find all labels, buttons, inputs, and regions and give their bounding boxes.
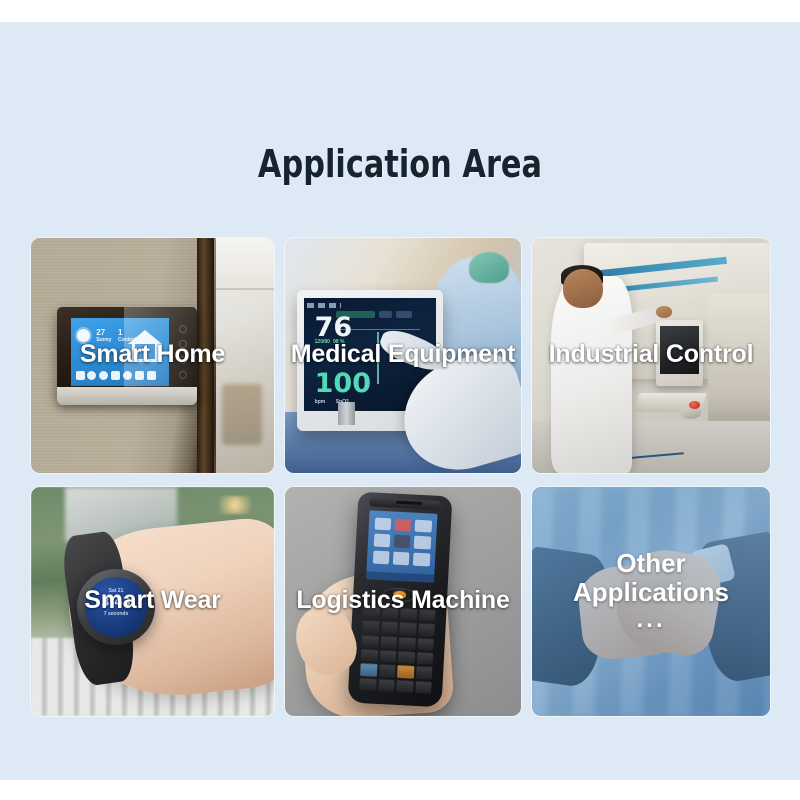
medical-equipment-scene: 76 100 120/80 98 % bpm SpO2	[285, 238, 521, 473]
smart-home-scene: 27 Sunny 1 Control	[31, 238, 274, 473]
keypad-key	[401, 608, 418, 621]
keypad-key	[381, 635, 398, 648]
other-label-line-1: Other	[532, 549, 770, 578]
keypad-key	[362, 634, 379, 647]
smart-home-panel: 27 Sunny 1 Control	[57, 307, 198, 396]
app-icon-7	[373, 550, 390, 563]
machine-right-module	[708, 294, 770, 440]
keypad-key	[417, 637, 434, 650]
control-mouse	[680, 407, 701, 419]
door-frame	[197, 238, 214, 473]
light-icon	[99, 371, 108, 380]
vital-small-2: 98 %	[333, 339, 344, 345]
device-screen	[367, 510, 438, 583]
card-other-applications[interactable]: Other Applications ...	[532, 487, 770, 716]
keypad-key	[364, 606, 381, 619]
app-icon-2	[395, 518, 412, 531]
control-monitor-screen	[660, 326, 699, 373]
card-industrial-control[interactable]: Industrial Control	[532, 238, 770, 473]
keypad-key	[379, 664, 396, 677]
card-medical-equipment[interactable]: 76 100 120/80 98 % bpm SpO2 Medical Equi…	[285, 238, 521, 473]
monitor-pill-2	[396, 311, 412, 319]
panel-base	[57, 387, 198, 405]
keypad-key	[419, 609, 436, 622]
application-card-grid: 27 Sunny 1 Control	[31, 238, 770, 716]
keypad-key	[417, 652, 434, 665]
card-logistics-machine[interactable]: Logistics Machine	[285, 487, 521, 716]
control-monitor	[656, 320, 704, 386]
keypad-key	[400, 622, 417, 635]
vital-small-3: bpm	[315, 399, 326, 405]
monitor-sweep-cursor	[377, 332, 379, 384]
vital-small-1: 120/80	[315, 339, 330, 345]
panel-glass-reflection	[124, 307, 197, 396]
keypad-key	[363, 620, 380, 633]
monitor-header-ticks	[307, 303, 341, 309]
keypad-key	[382, 607, 399, 620]
device-icon-grid	[373, 517, 432, 566]
vital-secondary-value: 100	[315, 370, 371, 397]
app-icon-1	[375, 517, 392, 530]
device-keypad	[360, 606, 436, 694]
lock-icon	[111, 371, 120, 380]
app-icon-8	[393, 552, 410, 565]
device-taskbar	[367, 571, 435, 583]
monitor-stand	[338, 402, 356, 425]
keypad-key	[398, 651, 415, 664]
keypad-key	[361, 649, 378, 662]
other-label-ellipsis: ...	[532, 607, 770, 634]
keypad-key	[378, 678, 395, 691]
app-icon-9	[414, 553, 431, 566]
keypad-function-key	[361, 663, 378, 676]
panel-fan-value: 1	[118, 329, 122, 338]
application-area-page: Application Area 27 Sunny 1 Control	[0, 0, 800, 800]
keypad-key	[418, 623, 435, 636]
smartwatch: Sat 21 3:43 7 seconds	[77, 569, 155, 645]
card-label-other-applications: Other Applications ...	[532, 549, 770, 634]
page-title: Application Area	[80, 142, 720, 186]
vital-primary-value: 76	[315, 314, 353, 341]
technician-head	[563, 269, 603, 309]
surgical-cap	[469, 252, 509, 283]
panel-temp-unit: Sunny	[96, 338, 111, 344]
background-light-bokeh	[211, 496, 260, 514]
keypad-key	[415, 680, 432, 693]
emergency-stop-button	[689, 401, 700, 409]
fan-icon	[87, 371, 96, 380]
watch-date: Sat 21	[85, 588, 147, 594]
keypad-key	[397, 679, 414, 692]
technician-hand	[656, 306, 673, 318]
logistics-machine-scene	[285, 487, 521, 716]
watch-time: 3:43	[85, 595, 147, 609]
card-smart-wear[interactable]: Sat 21 3:43 7 seconds Smart Wear	[31, 487, 274, 716]
keypad-key	[399, 636, 416, 649]
handheld-terminal	[348, 492, 453, 707]
keypad-key	[381, 621, 398, 634]
smart-wear-scene: Sat 21 3:43 7 seconds	[31, 487, 274, 716]
weather-sun-icon	[77, 329, 90, 342]
app-icon-3	[415, 519, 432, 532]
watch-subtext: 7 seconds	[85, 611, 147, 617]
keypad-key	[416, 666, 433, 679]
keypad-key	[380, 650, 397, 663]
keypad-alt-key	[398, 665, 415, 678]
room-ceiling	[216, 238, 274, 290]
app-icon-4	[374, 534, 391, 547]
app-icon-6	[415, 536, 432, 549]
other-label-line-2: Applications	[532, 578, 770, 607]
app-icon-5	[394, 535, 411, 548]
thermostat-icon	[76, 371, 85, 380]
watch-face: Sat 21 3:43 7 seconds	[85, 577, 147, 637]
card-smart-home[interactable]: 27 Sunny 1 Control	[31, 238, 274, 473]
panel-temp-value: 27	[96, 329, 105, 338]
keypad-key	[360, 677, 377, 690]
monitor-pill-1	[379, 311, 392, 319]
industrial-control-scene	[532, 238, 770, 473]
